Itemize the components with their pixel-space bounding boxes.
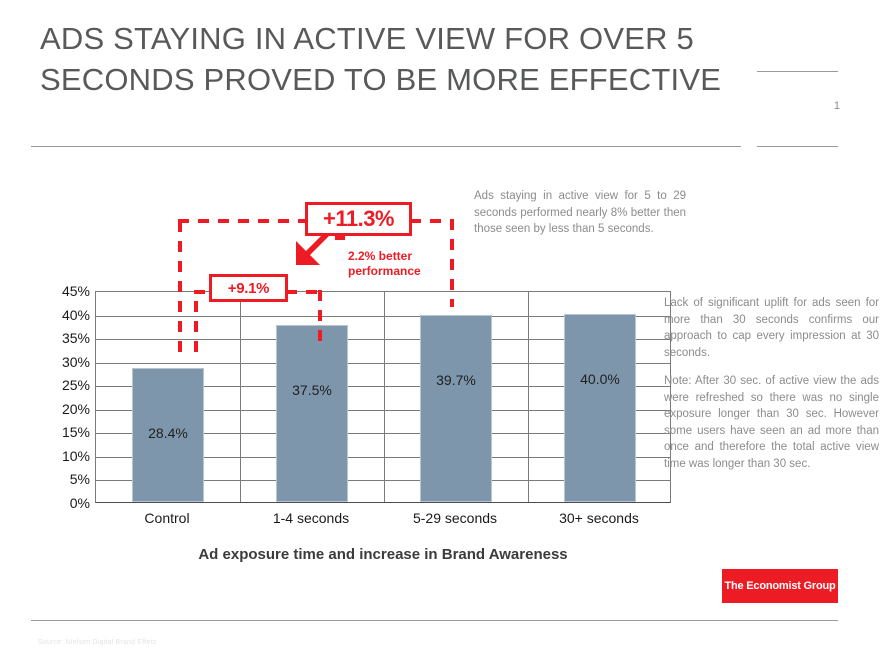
y-axis-tick: 35% <box>40 330 90 346</box>
category-separator <box>528 292 529 502</box>
side-note-bottom: Note: After 30 sec. of active view the a… <box>664 373 879 472</box>
x-axis-tick: 1-4 seconds <box>239 510 383 526</box>
side-note-top: Ads staying in active view for 5 to 29 s… <box>474 188 686 238</box>
bar[interactable] <box>420 315 492 502</box>
x-axis-tick: Control <box>95 510 239 526</box>
y-axis-tick: 40% <box>40 307 90 323</box>
divider-footer <box>31 620 838 621</box>
chart-caption: Ad exposure time and increase in Brand A… <box>95 546 671 563</box>
y-axis-tick: 0% <box>40 495 90 511</box>
y-axis-tick: 20% <box>40 401 90 417</box>
plot-area: 28.4%37.5%39.7%40.0% <box>95 291 671 503</box>
bar-value-label: 39.7% <box>420 372 492 388</box>
slide: ADS STAYING IN ACTIVE VIEW FOR OVER 5 SE… <box>0 0 884 649</box>
callout-badge-first: +9.1% <box>209 274 288 302</box>
category-separator <box>240 292 241 502</box>
y-axis-tick: 25% <box>40 377 90 393</box>
callout-arrow-note: 2.2% better performance <box>348 249 458 279</box>
y-axis-tick: 15% <box>40 424 90 440</box>
y-axis-tick: 5% <box>40 471 90 487</box>
bar[interactable] <box>276 325 348 502</box>
y-axis: 45%40%35%30%25%20%15%10%5%0% <box>38 291 90 503</box>
category-separator <box>384 292 385 502</box>
x-axis-tick: 5-29 seconds <box>383 510 527 526</box>
bar-value-label: 40.0% <box>564 371 636 387</box>
bar-value-label: 37.5% <box>276 382 348 398</box>
economist-group-logo: The Economist Group <box>722 569 838 603</box>
x-axis-tick: 30+ seconds <box>527 510 671 526</box>
y-axis-tick: 10% <box>40 448 90 464</box>
source-note: Source: Nielsen Digital Brand Effect <box>38 639 156 646</box>
callout-badge-total: +11.3% <box>305 202 412 236</box>
y-axis-tick: 30% <box>40 354 90 370</box>
bar-value-label: 28.4% <box>132 425 204 441</box>
bar[interactable] <box>564 314 636 502</box>
side-note-middle: Lack of significant uplift for ads seen … <box>664 295 879 361</box>
y-axis-tick: 45% <box>40 283 90 299</box>
